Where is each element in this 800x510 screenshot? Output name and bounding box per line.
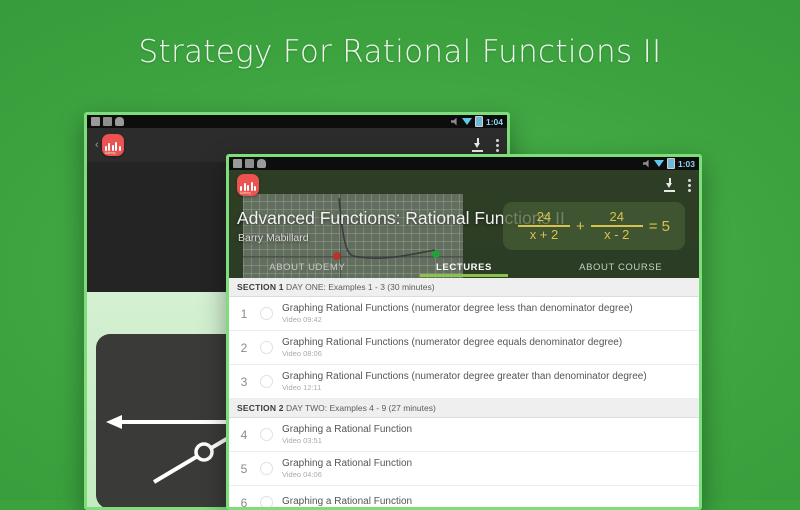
image-icon <box>245 159 254 168</box>
lecture-text: Graphing a Rational Function Video 03:51 <box>282 424 412 446</box>
equation-plus: + <box>576 218 585 235</box>
section-label: SECTION 2 <box>237 403 284 413</box>
fraction-2-denominator: x - 2 <box>604 228 629 241</box>
lecture-number: 6 <box>237 496 251 510</box>
back-app-bar-actions <box>471 138 499 152</box>
lecture-title: Graphing a Rational Function <box>282 424 412 436</box>
overflow-menu-icon[interactable] <box>496 139 499 152</box>
image-icon <box>103 117 112 126</box>
tab-about-udemy[interactable]: ABOUT UDEMY <box>229 262 386 273</box>
front-tablet-device: 1:03 Udemy Advanced Functions: Rational … <box>226 154 702 510</box>
lecture-status-circle-icon[interactable] <box>260 375 273 388</box>
section-title: DAY ONE: Examples 1 - 3 (30 minutes) <box>286 282 435 292</box>
lecture-number: 5 <box>237 462 251 476</box>
back-chevron-icon[interactable]: ‹ <box>95 139 99 151</box>
lecture-status-circle-icon[interactable] <box>260 307 273 320</box>
lecture-meta: Video 03:51 <box>282 436 412 445</box>
download-icon[interactable] <box>471 138 484 152</box>
course-author: Barry Mabillard <box>238 232 309 244</box>
lecture-number: 4 <box>237 428 251 442</box>
lecture-row[interactable]: 2 Graphing Rational Functions (numerator… <box>229 331 699 365</box>
download-icon[interactable] <box>663 178 676 192</box>
front-status-system-icons: 1:03 <box>643 158 695 169</box>
lecture-number: 1 <box>237 307 251 321</box>
equation-result: = 5 <box>649 218 670 235</box>
battery-icon <box>667 158 675 169</box>
lecture-list[interactable]: SECTION 1 DAY ONE: Examples 1 - 3 (30 mi… <box>229 278 699 510</box>
lecture-meta: Video 12:11 <box>282 383 647 392</box>
back-status-system-icons: 1:04 <box>451 116 503 127</box>
lecture-text: Graphing a Rational Function Video 04:06 <box>282 458 412 480</box>
back-status-bar: 1:04 <box>87 115 507 128</box>
mute-icon <box>451 118 459 126</box>
udemy-logo[interactable]: Udemy <box>237 174 259 196</box>
lecture-title: Graphing Rational Functions (numerator d… <box>282 337 622 349</box>
mute-icon <box>643 160 651 168</box>
back-status-clock: 1:04 <box>486 117 503 127</box>
lecture-title: Graphing a Rational Function <box>282 496 412 508</box>
tab-about-course[interactable]: ABOUT COURSE <box>542 262 699 273</box>
tab-lectures[interactable]: LECTURES <box>386 262 543 273</box>
lecture-title: Graphing Rational Functions (numerator d… <box>282 371 647 383</box>
lecture-row[interactable]: 3 Graphing Rational Functions (numerator… <box>229 365 699 399</box>
lecture-text: Graphing Rational Functions (numerator d… <box>282 303 633 325</box>
lecture-row[interactable]: 6 Graphing a Rational Function <box>229 486 699 510</box>
lecture-text: Graphing Rational Functions (numerator d… <box>282 371 647 393</box>
front-status-bar: 1:03 <box>229 157 699 170</box>
lecture-title: Graphing Rational Functions (numerator d… <box>282 303 633 315</box>
fraction-1-denominator: x + 2 <box>530 228 559 241</box>
overflow-menu-icon[interactable] <box>688 179 691 192</box>
front-status-notification-icons <box>233 159 266 168</box>
section-header: SECTION 2 DAY TWO: Examples 4 - 9 (27 mi… <box>229 399 699 418</box>
lecture-row[interactable]: 4 Graphing a Rational Function Video 03:… <box>229 418 699 452</box>
lecture-meta: Video 08:06 <box>282 349 622 358</box>
lecture-text: Graphing a Rational Function <box>282 496 412 509</box>
lecture-status-circle-icon[interactable] <box>260 341 273 354</box>
equation-fraction-1: 24 x + 2 <box>518 210 570 241</box>
front-status-clock: 1:03 <box>678 159 695 169</box>
fraction-2-numerator: 24 <box>610 210 624 223</box>
android-robot-icon <box>257 159 266 168</box>
sim-icon <box>233 159 242 168</box>
section-title: DAY TWO: Examples 4 - 9 (27 minutes) <box>286 403 436 413</box>
battery-icon <box>475 116 483 127</box>
wifi-icon <box>462 118 472 125</box>
section-label: SECTION 1 <box>237 282 284 292</box>
wifi-icon <box>654 160 664 167</box>
lecture-row[interactable]: 5 Graphing a Rational Function Video 04:… <box>229 452 699 486</box>
lecture-number: 3 <box>237 375 251 389</box>
lecture-meta: Video 09:42 <box>282 315 633 324</box>
lecture-text: Graphing Rational Functions (numerator d… <box>282 337 622 359</box>
fraction-1-numerator: 24 <box>537 210 551 223</box>
course-hero: Udemy Advanced Functions: Rational Funct… <box>229 170 699 278</box>
lecture-title: Graphing a Rational Function <box>282 458 412 470</box>
lecture-status-circle-icon[interactable] <box>260 496 273 509</box>
lecture-status-circle-icon[interactable] <box>260 428 273 441</box>
back-status-notification-icons <box>91 117 124 126</box>
udemy-logo[interactable]: Udemy <box>102 134 124 156</box>
front-app-bar: Udemy <box>229 170 699 200</box>
front-app-bar-actions <box>663 178 691 192</box>
page-title: Strategy For Rational Functions II <box>0 34 800 70</box>
sim-icon <box>91 117 100 126</box>
lecture-number: 2 <box>237 341 251 355</box>
lecture-row[interactable]: 1 Graphing Rational Functions (numerator… <box>229 297 699 331</box>
course-tabs: ABOUT UDEMY LECTURES ABOUT COURSE <box>229 256 699 278</box>
lecture-meta: Video 04:06 <box>282 470 412 479</box>
equation-fraction-2: 24 x - 2 <box>591 210 643 241</box>
section-header: SECTION 1 DAY ONE: Examples 1 - 3 (30 mi… <box>229 278 699 297</box>
equation-card: 24 x + 2 + 24 x - 2 = 5 <box>503 202 685 250</box>
lecture-status-circle-icon[interactable] <box>260 462 273 475</box>
android-robot-icon <box>115 117 124 126</box>
